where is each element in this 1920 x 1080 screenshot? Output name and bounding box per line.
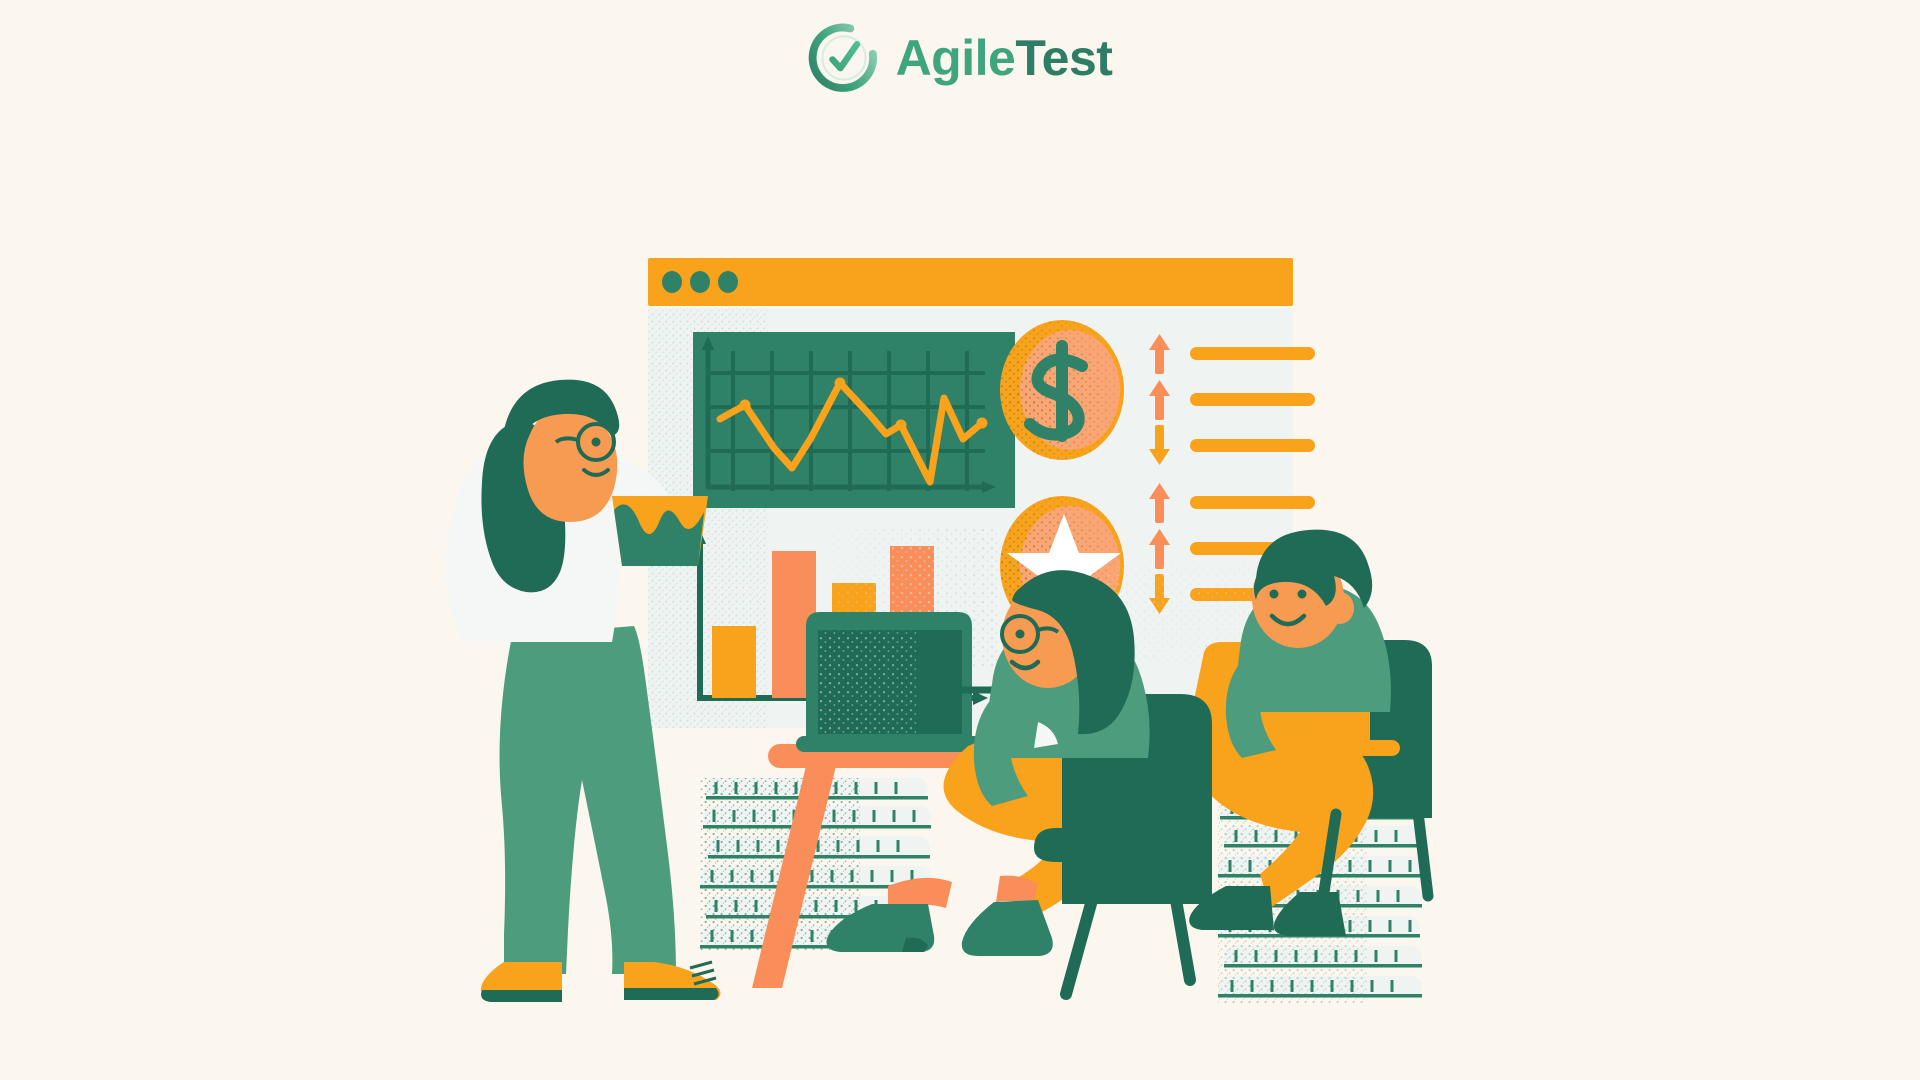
brand-logo[interactable]: AgileTest — [0, 22, 1920, 94]
analyst-right-eye-right — [1298, 590, 1307, 599]
scene-label: team-analytics-dashboard-illustration — [0, 0, 1, 1]
line-chart-point — [896, 420, 907, 431]
illustration-stage: AgileTest — [0, 0, 1920, 1080]
brand-wordmark: AgileTest — [896, 33, 1113, 83]
laptop-right-base — [1194, 740, 1400, 756]
scene-illustration — [0, 96, 1920, 1080]
dollar-symbol-value: $ — [0, 0, 1, 1]
browser-traffic-lights[interactable] — [662, 271, 738, 293]
kpi-bar-4 — [1190, 496, 1315, 509]
kpi-bar-3 — [1190, 439, 1315, 452]
star-symbol-value: ★ — [0, 0, 1, 1]
laptop-screen-grain — [818, 630, 918, 734]
analyst-right-eye-left — [1270, 590, 1279, 599]
traffic-light-dot-2[interactable] — [690, 271, 710, 293]
traffic-light-dot-3[interactable] — [718, 271, 738, 293]
laptop-base — [796, 736, 982, 752]
laptop-left[interactable] — [796, 612, 982, 752]
performance-line-chart[interactable] — [693, 332, 1015, 508]
paint-bucket-icon — [612, 496, 708, 566]
kpi-bar-2 — [1190, 393, 1315, 406]
analyst-left-eye — [1016, 630, 1025, 639]
line-chart-point — [835, 378, 846, 389]
kpi-bar-1 — [1190, 347, 1315, 360]
brand-word-agile: Agile — [896, 30, 1016, 86]
brand-word-test: Test — [1015, 30, 1112, 86]
browser-titlebar — [648, 258, 1293, 306]
line-chart-point — [977, 418, 988, 429]
check-circle-icon — [808, 22, 880, 94]
chair-left-armrest — [1034, 828, 1092, 862]
line-chart-point — [740, 400, 751, 411]
bar-1 — [712, 626, 756, 698]
traffic-light-dot-1[interactable] — [662, 271, 682, 293]
presenter-eye — [592, 438, 601, 447]
